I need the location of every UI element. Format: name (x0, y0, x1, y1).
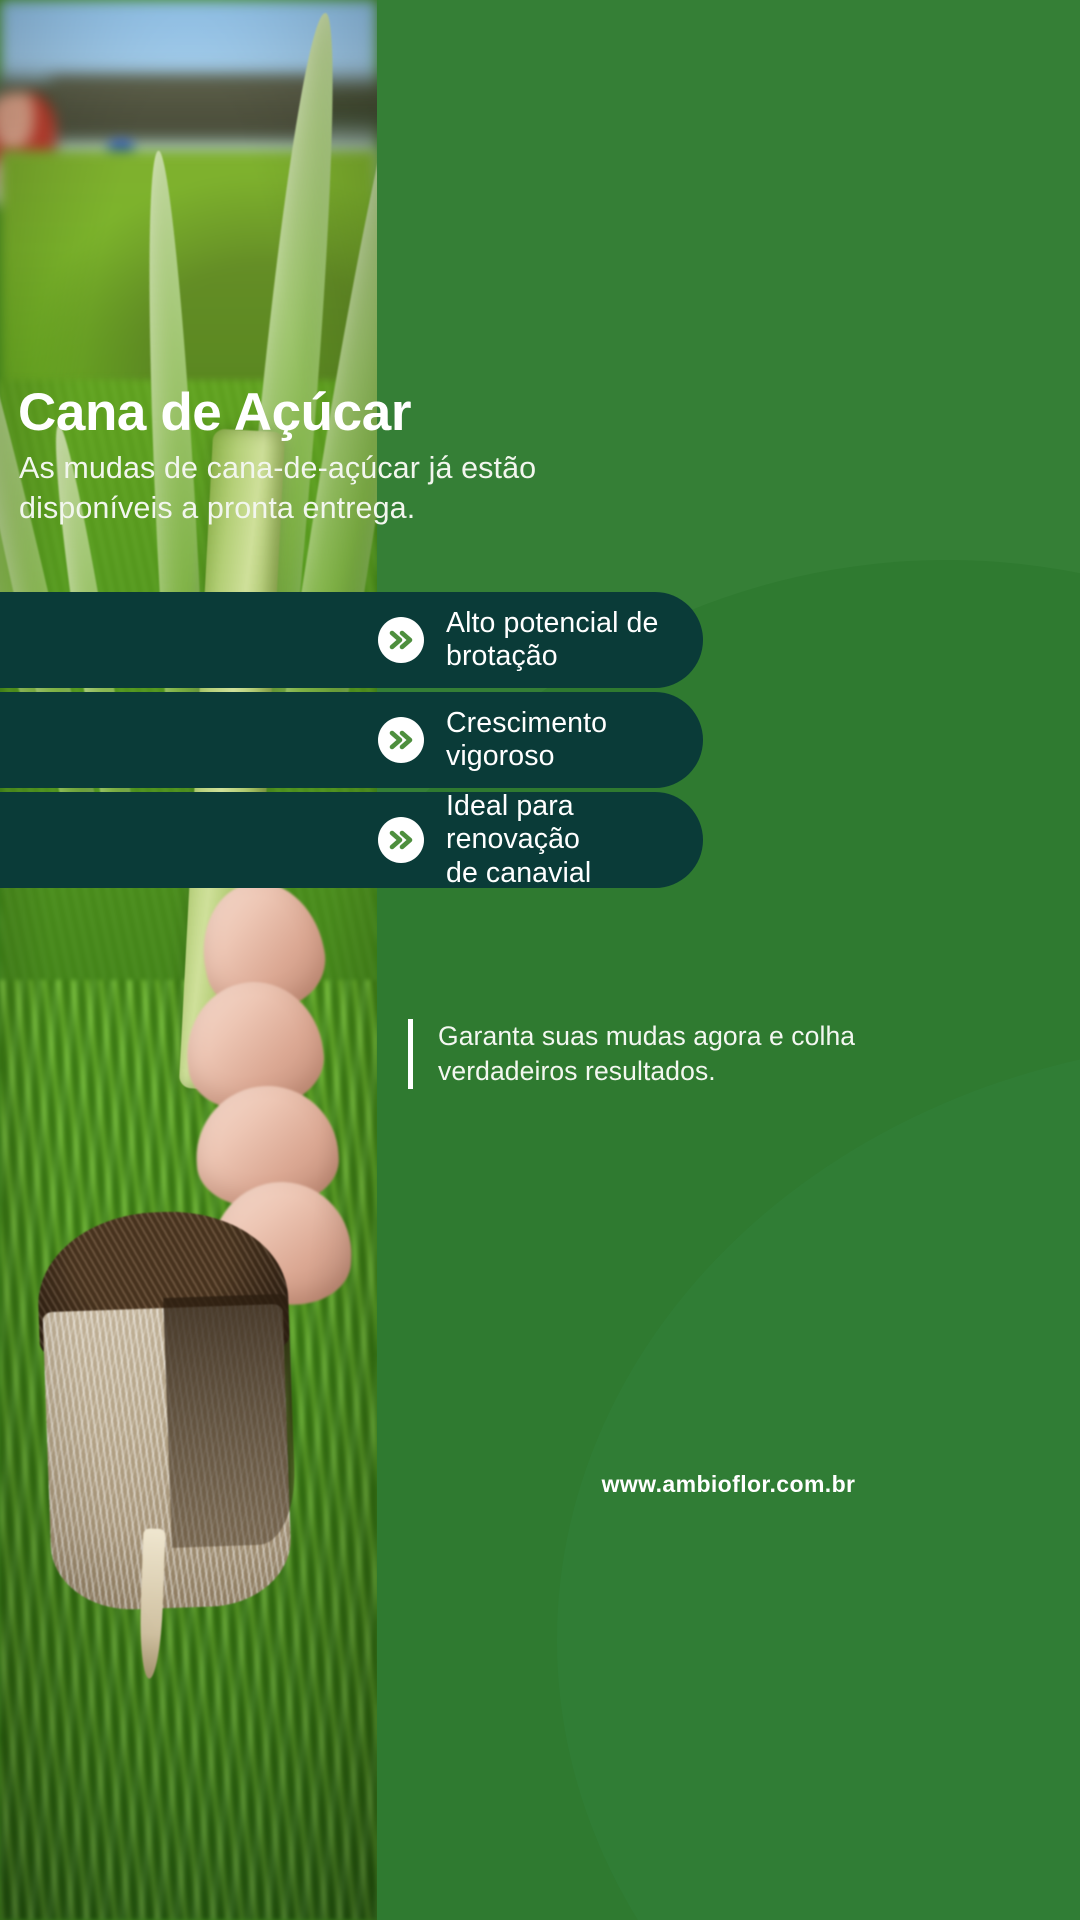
feature-label: Ideal para renovação de canavial (446, 790, 703, 889)
feature-label: Crescimento vigoroso (446, 707, 607, 773)
feature-label: Alto potencial de brotação (446, 607, 658, 673)
double-chevron-right-icon (378, 717, 424, 763)
double-chevron-right-icon (378, 817, 424, 863)
feature-item[interactable]: Ideal para renovação de canavial (0, 792, 703, 888)
feature-item[interactable]: Alto potencial de brotação (0, 592, 703, 688)
panel-content: Cana de Açúcar As mudas de cana-de-açúca… (0, 0, 1080, 1920)
page-subtitle: As mudas de cana-de-açúcar já estão disp… (19, 448, 674, 529)
page-title: Cana de Açúcar (18, 385, 678, 440)
promo-poster: Cana de Açúcar As mudas de cana-de-açúca… (0, 0, 1080, 1920)
feature-item[interactable]: Crescimento vigoroso (0, 692, 703, 788)
call-to-action-quote: Garanta suas mudas agora e colha verdade… (408, 1019, 868, 1089)
double-chevron-right-icon (378, 617, 424, 663)
website-url[interactable]: www.ambioflor.com.br (377, 1471, 1080, 1498)
